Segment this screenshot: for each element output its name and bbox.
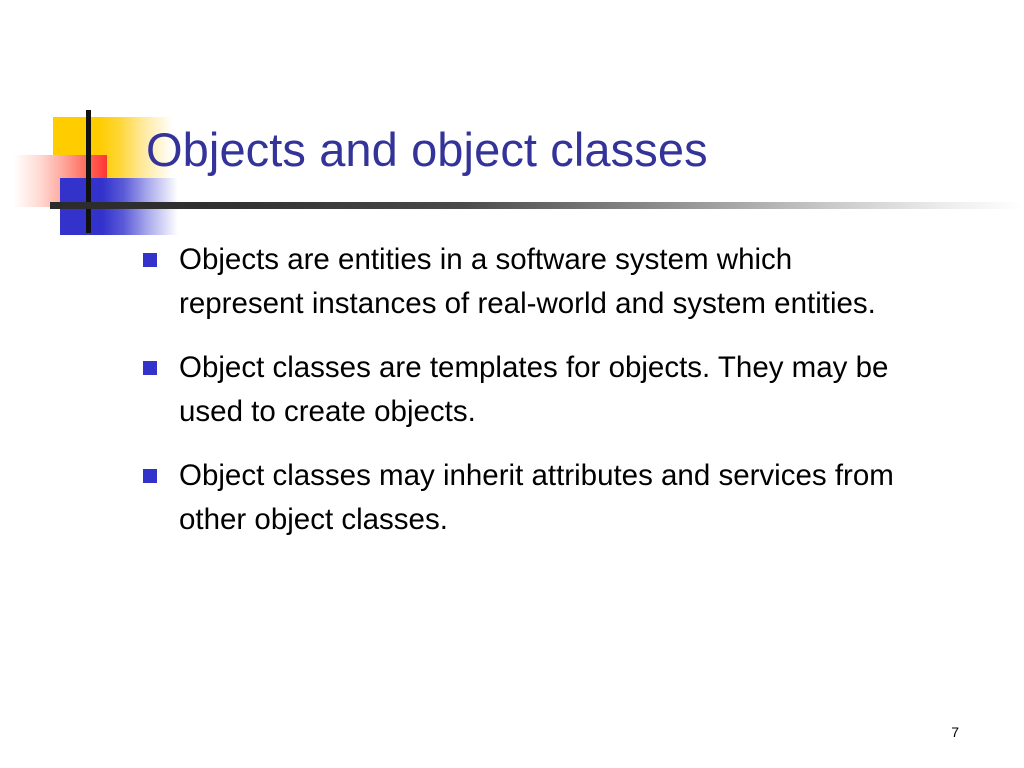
slide-body: Objects are entities in a software syste…: [143, 238, 943, 562]
decoration-red-square: [14, 155, 107, 207]
decoration-blue-square-lower: [60, 211, 178, 235]
bullet-square-icon: [143, 361, 157, 375]
slide: Objects and object classes Objects are e…: [0, 0, 1024, 768]
bullet-item: Objects are entities in a software syste…: [143, 238, 943, 326]
bullet-item: Object classes may inherit attributes an…: [143, 454, 943, 542]
bullet-square-icon: [143, 469, 157, 483]
bullet-item: Object classes are templates for objects…: [143, 346, 943, 434]
decoration-vertical-line: [86, 110, 91, 233]
page-number: 7: [951, 724, 959, 740]
slide-title: Objects and object classes: [146, 122, 708, 178]
bullet-square-icon: [143, 253, 157, 267]
title-underline-rule: [50, 202, 1024, 209]
decoration-blue-square-upper: [60, 178, 178, 218]
bullet-text: Object classes may inherit attributes an…: [179, 454, 924, 542]
bullet-text: Objects are entities in a software syste…: [179, 238, 924, 326]
bullet-text: Object classes are templates for objects…: [179, 346, 924, 434]
